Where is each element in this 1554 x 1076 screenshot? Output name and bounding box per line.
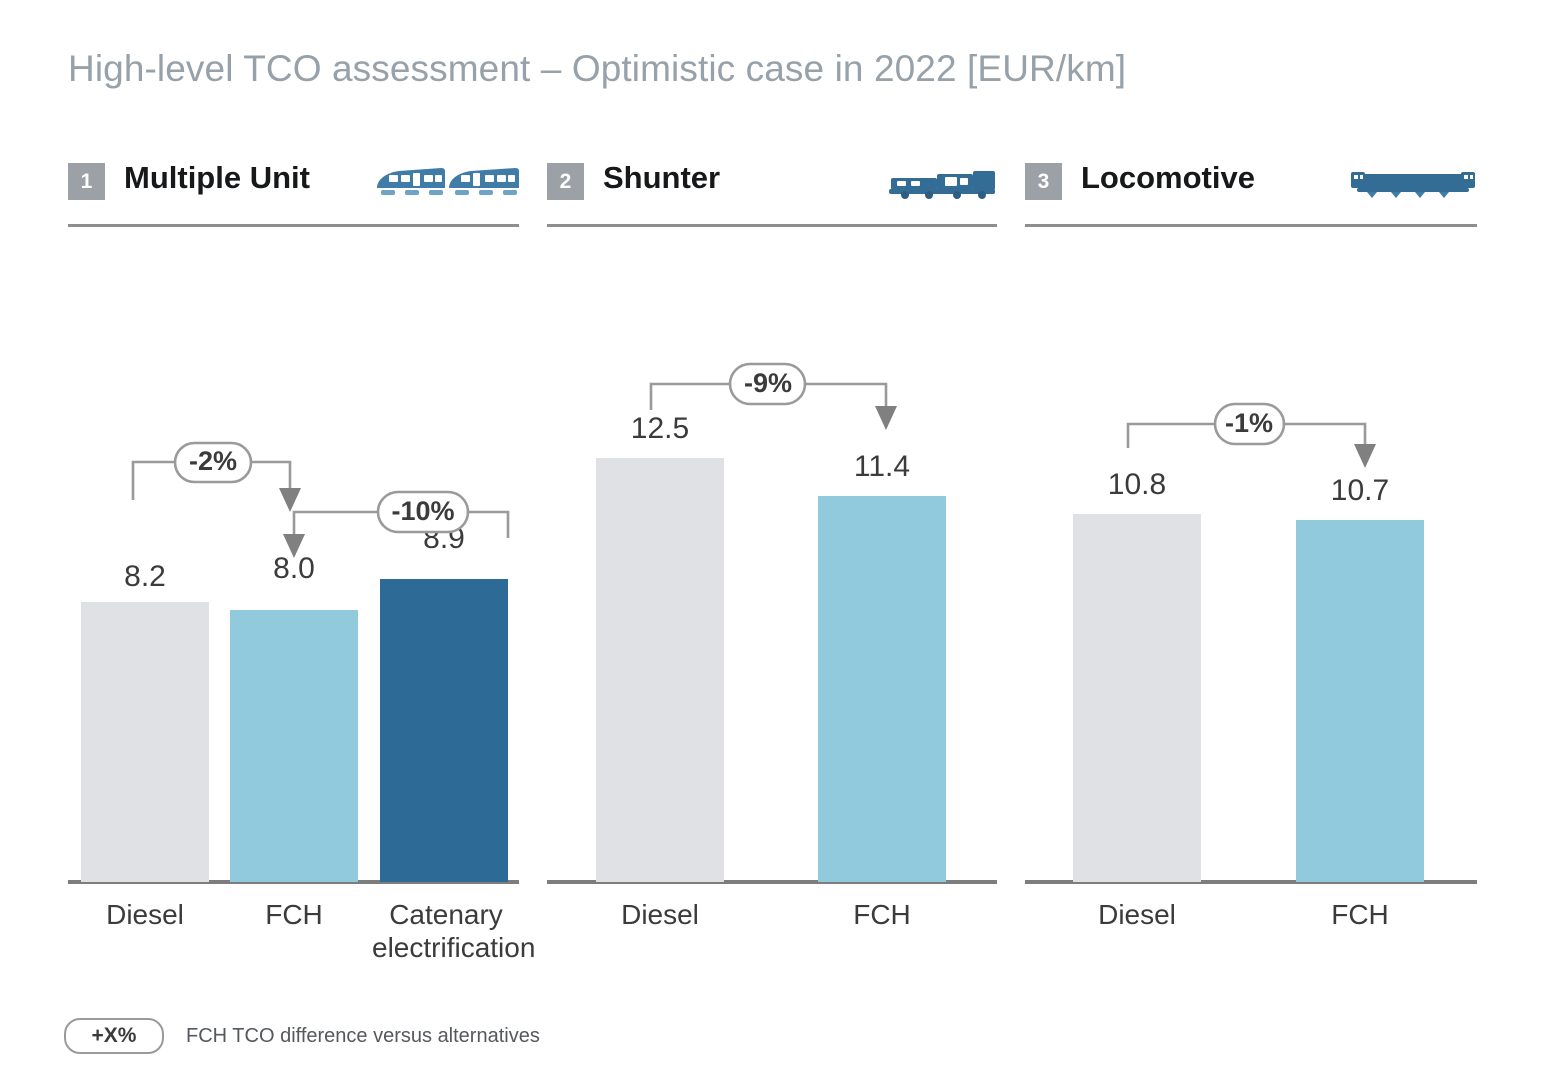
bar-locomotive-diesel[interactable] [1073,514,1201,882]
category-label-multiple-unit-fch: FCH [220,898,368,931]
bar-multiple-unit-fch[interactable] [230,610,358,882]
legend-pill: +X% [64,1018,164,1054]
annotation-callout-locomotive-diesel-fch: -1% [1125,400,1385,520]
category-label-multiple-unit-diesel: Diesel [71,898,219,931]
legend-label: FCH TCO difference versus alternatives [186,1025,540,1048]
bar-locomotive-fch[interactable] [1296,520,1424,882]
annotation-value: -10% [391,496,454,526]
bar-shunter-fch[interactable] [818,496,946,882]
chart-area: 8.2 8.0 8.9 Diesel FCH Catenary electrif… [0,0,1554,1076]
category-label-shunter-diesel: Diesel [586,898,734,931]
annotation-value: -1% [1225,408,1273,438]
annotation-value: -9% [744,368,792,398]
bar-value-multiple-unit-diesel: 8.2 [81,560,209,594]
bar-multiple-unit-catenary[interactable] [380,579,508,882]
annotation-callout-shunter-diesel-fch: -9% [648,358,908,478]
category-label-locomotive-fch: FCH [1286,898,1434,931]
category-label-locomotive-diesel: Diesel [1063,898,1211,931]
bar-shunter-diesel[interactable] [596,458,724,882]
annotation-callout-multiple-unit-catenary-fch: -10% [268,486,518,606]
category-label-multiple-unit-catenary: Catenary electrification [372,898,520,964]
category-label-shunter-fch: FCH [808,898,956,931]
annotation-value: -2% [189,446,237,476]
legend: +X% FCH TCO difference versus alternativ… [64,1018,540,1054]
bar-multiple-unit-diesel[interactable] [81,602,209,882]
